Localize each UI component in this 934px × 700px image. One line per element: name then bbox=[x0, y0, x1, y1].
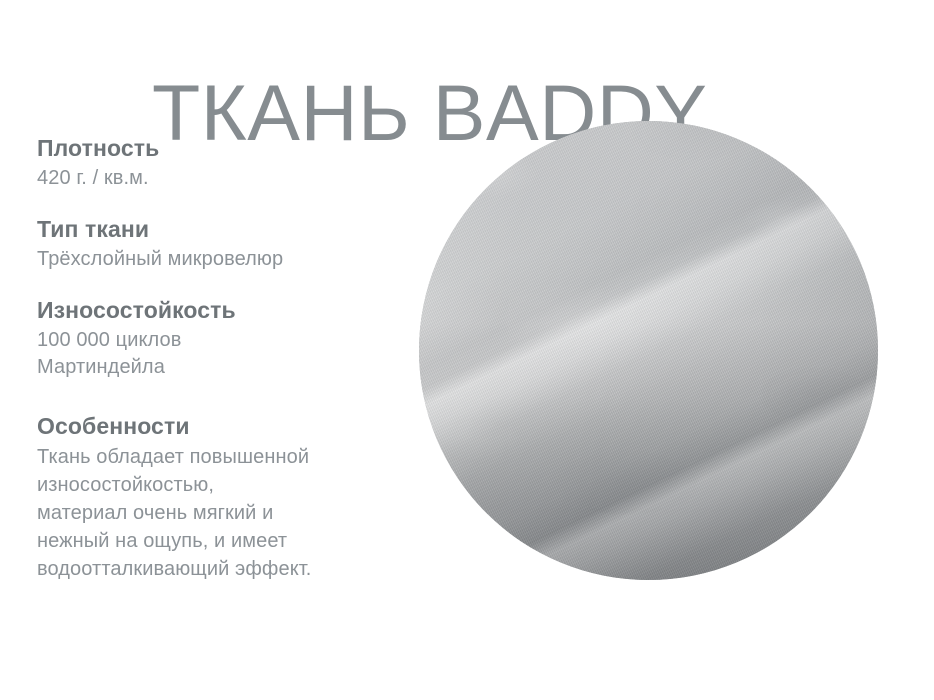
spec-item-density: Плотность 420 г. / кв.м. bbox=[37, 133, 397, 192]
spec-value-fabric-type: Трёхслойный микровелюр bbox=[37, 246, 397, 273]
features-line: Ткань обладает повышенной bbox=[37, 443, 382, 471]
spec-list: Плотность 420 г. / кв.м. Тип ткани Трёхс… bbox=[37, 133, 397, 583]
spec-item-abrasion: Износостойкость 100 000 циклов Мартиндей… bbox=[37, 295, 397, 381]
spec-value-density: 420 г. / кв.м. bbox=[37, 165, 397, 192]
features-line: материал очень мягкий и bbox=[37, 499, 382, 527]
fabric-bottom-shading bbox=[419, 121, 878, 580]
spec-heading-abrasion: Износостойкость bbox=[37, 295, 397, 325]
spec-item-fabric-type: Тип ткани Трёхслойный микровелюр bbox=[37, 214, 397, 273]
spec-value-line: Трёхслойный микровелюр bbox=[37, 246, 397, 273]
spec-heading-features: Особенности bbox=[37, 411, 397, 441]
spec-value-abrasion: 100 000 циклов Мартиндейла bbox=[37, 327, 397, 381]
features-line: нежный на ощупь, и имеет bbox=[37, 527, 382, 555]
spec-heading-density: Плотность bbox=[37, 133, 397, 163]
features-line: износостойкостью, bbox=[37, 471, 382, 499]
fabric-swatch-photo bbox=[419, 121, 878, 580]
spec-value-line: 420 г. / кв.м. bbox=[37, 165, 397, 192]
spec-value-line: Мартиндейла bbox=[37, 354, 397, 381]
features-paragraph: Ткань обладает повышенной износостойкост… bbox=[37, 443, 382, 583]
page-root: ТКАНЬ BADDY Плотность 420 г. / кв.м. Тип… bbox=[0, 0, 934, 700]
spec-item-features: Особенности Ткань обладает повышенной из… bbox=[37, 411, 397, 583]
spec-value-line: 100 000 циклов bbox=[37, 327, 397, 354]
features-line: водоотталкивающий эффект. bbox=[37, 555, 382, 583]
spec-heading-fabric-type: Тип ткани bbox=[37, 214, 397, 244]
